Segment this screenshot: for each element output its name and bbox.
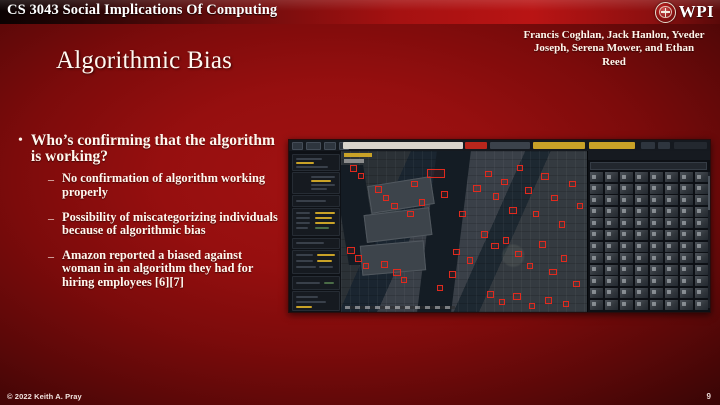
toolbar-button[interactable]: [292, 142, 303, 150]
toolbar-chip: [490, 142, 530, 149]
thumbnail-tile[interactable]: [635, 242, 648, 252]
thumbnail-tile[interactable]: [605, 207, 618, 217]
thumbnail-tile[interactable]: [620, 253, 633, 263]
sidebar-widget-toggle[interactable]: [292, 276, 340, 290]
thumbnail-tile[interactable]: [590, 253, 603, 263]
thumbnail-tile[interactable]: [695, 172, 708, 182]
thumbnail-tile[interactable]: [665, 172, 678, 182]
thumbnail-tile[interactable]: [680, 265, 693, 275]
thumbnail-tile[interactable]: [620, 172, 633, 182]
toolbar-meta: [674, 142, 707, 149]
thumbnail-tile[interactable]: [635, 195, 648, 205]
thumbnail-tile[interactable]: [650, 195, 663, 205]
thumbnail-tile[interactable]: [605, 288, 618, 298]
thumbnail-tile[interactable]: [590, 265, 603, 275]
thumbnail-tile[interactable]: [620, 207, 633, 217]
thumbnail-tile[interactable]: [665, 265, 678, 275]
toolbar-highlight-chip: [533, 142, 585, 149]
thumbnail-tile[interactable]: [635, 230, 648, 240]
thumbnail-tile[interactable]: [680, 300, 693, 310]
thumbnail-tile[interactable]: [650, 230, 663, 240]
bullet-level2: – No confirmation of algorithm working p…: [48, 172, 280, 199]
thumbnail-tile[interactable]: [650, 265, 663, 275]
thumbnail-tile[interactable]: [590, 300, 603, 310]
thumbnail-tile[interactable]: [665, 242, 678, 252]
thumbnail-tile[interactable]: [695, 265, 708, 275]
thumbnail-tile[interactable]: [695, 242, 708, 252]
thumbnail-tile[interactable]: [695, 300, 708, 310]
geospatial-detection-dashboard-image: [288, 139, 711, 313]
sidebar-widget-legend[interactable]: [292, 291, 340, 311]
sidebar-widget-compass[interactable]: [292, 172, 340, 194]
page-title: Algorithmic Bias: [56, 47, 232, 75]
thumbnail-tile[interactable]: [620, 265, 633, 275]
thumbnail-tile[interactable]: [590, 172, 603, 182]
thumbnail-tile[interactable]: [590, 218, 603, 228]
author-list: Francis Coghlan, Jack Hanlon, Yveder Jos…: [522, 29, 706, 69]
thumbnail-tile[interactable]: [665, 253, 678, 263]
thumbnail-tile[interactable]: [695, 218, 708, 228]
bullet-level2: – Possibility of miscategorizing individ…: [48, 211, 280, 238]
thumbnail-tile[interactable]: [605, 242, 618, 252]
thumbnail-tile[interactable]: [680, 172, 693, 182]
toolbar-highlight-chip: [589, 142, 635, 149]
thumbnail-tile[interactable]: [650, 253, 663, 263]
thumbnail-tile[interactable]: [605, 230, 618, 240]
thumbnail-tile[interactable]: [605, 172, 618, 182]
copyright-notice: © 2022 Keith A. Pray: [7, 392, 82, 401]
thumbnail-tile[interactable]: [635, 207, 648, 217]
thumbnail-tile[interactable]: [680, 242, 693, 252]
thumbnail-tile[interactable]: [605, 218, 618, 228]
thumbnail-tile[interactable]: [695, 184, 708, 194]
thumbnail-tile[interactable]: [590, 184, 603, 194]
thumbnail-tile[interactable]: [695, 230, 708, 240]
thumbnail-tile[interactable]: [620, 288, 633, 298]
thumbnail-tile[interactable]: [650, 207, 663, 217]
dash-marker-icon: –: [48, 249, 54, 290]
thumbnail-tile[interactable]: [635, 184, 648, 194]
thumbnail-tile[interactable]: [635, 276, 648, 286]
thumbnail-tile[interactable]: [650, 288, 663, 298]
dashboard-search-input[interactable]: [343, 142, 463, 149]
thumbnail-tile[interactable]: [680, 230, 693, 240]
bullet-level2-text: Possibility of miscategorizing individua…: [62, 211, 280, 238]
thumbnail-tile[interactable]: [680, 276, 693, 286]
thumbnail-tile[interactable]: [605, 276, 618, 286]
thumbnail-tile[interactable]: [620, 230, 633, 240]
toolbar-button[interactable]: [306, 142, 321, 150]
bullet-level2: – Amazon reported a biased against woman…: [48, 249, 280, 290]
thumbnail-tile[interactable]: [650, 218, 663, 228]
sidebar-widget-stats[interactable]: [292, 250, 340, 274]
bullet-level1-text: Who’s confirming that the algorithm is w…: [31, 133, 280, 165]
thumbnail-tile[interactable]: [605, 265, 618, 275]
wpi-seal-icon: [655, 2, 676, 23]
presentation-slide: CS 3043 Social Implications Of Computing…: [0, 0, 720, 405]
thumbnail-tile[interactable]: [680, 218, 693, 228]
thumbnail-tile[interactable]: [695, 276, 708, 286]
dashboard-left-sidebar: [289, 151, 342, 312]
course-title: CS 3043 Social Implications Of Computing: [7, 2, 277, 19]
sidebar-widget-summary[interactable]: [292, 154, 340, 171]
detection-thumbnail-grid[interactable]: [590, 172, 708, 308]
thumbnail-tile[interactable]: [605, 195, 618, 205]
thumbnail-tile[interactable]: [680, 184, 693, 194]
map-label-badge: [344, 153, 372, 157]
page-number: 9: [707, 392, 711, 401]
thumbnail-tile[interactable]: [620, 242, 633, 252]
map-scale-bar: [345, 306, 455, 309]
sidebar-widget-section-header: [292, 238, 340, 249]
dash-marker-icon: –: [48, 172, 54, 199]
thumbnail-tile[interactable]: [605, 253, 618, 263]
thumbnail-tile[interactable]: [650, 242, 663, 252]
thumbnail-tile[interactable]: [635, 218, 648, 228]
thumbnail-tile[interactable]: [590, 276, 603, 286]
thumbnail-tile[interactable]: [665, 195, 678, 205]
toolbar-button[interactable]: [324, 142, 336, 150]
thumbnail-tile[interactable]: [620, 184, 633, 194]
thumbnail-tile[interactable]: [590, 195, 603, 205]
toolbar-button[interactable]: [658, 142, 670, 149]
results-filter-input[interactable]: [590, 162, 707, 170]
thumbnail-tile[interactable]: [680, 288, 693, 298]
thumbnail-tile[interactable]: [635, 253, 648, 263]
dash-marker-icon: –: [48, 211, 54, 238]
thumbnail-tile[interactable]: [605, 300, 618, 310]
thumbnail-tile[interactable]: [620, 218, 633, 228]
thumbnail-tile[interactable]: [590, 207, 603, 217]
dashboard-results-panel: [587, 151, 711, 312]
thumbnail-tile[interactable]: [665, 230, 678, 240]
bullet-marker-icon: •: [18, 133, 23, 165]
bullet-level2-text: Amazon reported a biased against woman i…: [62, 249, 280, 290]
thumbnail-tile[interactable]: [680, 253, 693, 263]
bullet-list: • Who’s confirming that the algorithm is…: [18, 133, 280, 301]
thumbnail-tile[interactable]: [620, 276, 633, 286]
bullet-level1: • Who’s confirming that the algorithm is…: [18, 133, 280, 165]
thumbnail-tile[interactable]: [695, 207, 708, 217]
thumbnail-tile[interactable]: [680, 207, 693, 217]
thumbnail-tile[interactable]: [665, 288, 678, 298]
slide-header-bar: CS 3043 Social Implications Of Computing…: [0, 0, 720, 24]
thumbnail-tile[interactable]: [590, 230, 603, 240]
thumbnail-tile[interactable]: [635, 265, 648, 275]
thumbnail-tile[interactable]: [695, 195, 708, 205]
thumbnail-tile[interactable]: [590, 288, 603, 298]
thumbnail-tile[interactable]: [635, 288, 648, 298]
thumbnail-tile[interactable]: [620, 195, 633, 205]
seal-bar-horizontal: [661, 11, 670, 13]
thumbnail-tile[interactable]: [635, 300, 648, 310]
thumbnail-tile[interactable]: [665, 184, 678, 194]
results-scrollbar[interactable]: [708, 172, 710, 308]
sidebar-widget-filter[interactable]: [292, 195, 340, 207]
sidebar-widget-metrics[interactable]: [292, 208, 340, 236]
wpi-wordmark: WPI: [679, 2, 714, 22]
thumbnail-tile[interactable]: [650, 184, 663, 194]
thumbnail-tile[interactable]: [665, 207, 678, 217]
thumbnail-tile[interactable]: [650, 172, 663, 182]
bullet-level2-text: No confirmation of algorithm working pro…: [62, 172, 280, 199]
toolbar-status-chip: [465, 142, 487, 149]
thumbnail-tile[interactable]: [665, 300, 678, 310]
thumbnail-tile[interactable]: [620, 300, 633, 310]
thumbnail-tile[interactable]: [650, 276, 663, 286]
thumbnail-tile[interactable]: [665, 276, 678, 286]
results-panel-toolbar[interactable]: [588, 151, 711, 160]
seal-bar-vertical: [665, 8, 667, 17]
thumbnail-tile[interactable]: [590, 242, 603, 252]
thumbnail-tile[interactable]: [650, 300, 663, 310]
thumbnail-tile[interactable]: [695, 253, 708, 263]
thumbnail-tile[interactable]: [605, 184, 618, 194]
toolbar-button[interactable]: [641, 142, 655, 149]
thumbnail-tile[interactable]: [695, 288, 708, 298]
thumbnail-tile[interactable]: [680, 195, 693, 205]
map-label-badge: [344, 159, 364, 163]
thumbnail-tile[interactable]: [635, 172, 648, 182]
thumbnail-tile[interactable]: [665, 218, 678, 228]
wpi-logo: WPI: [655, 1, 714, 23]
satellite-map-view[interactable]: [341, 151, 587, 312]
